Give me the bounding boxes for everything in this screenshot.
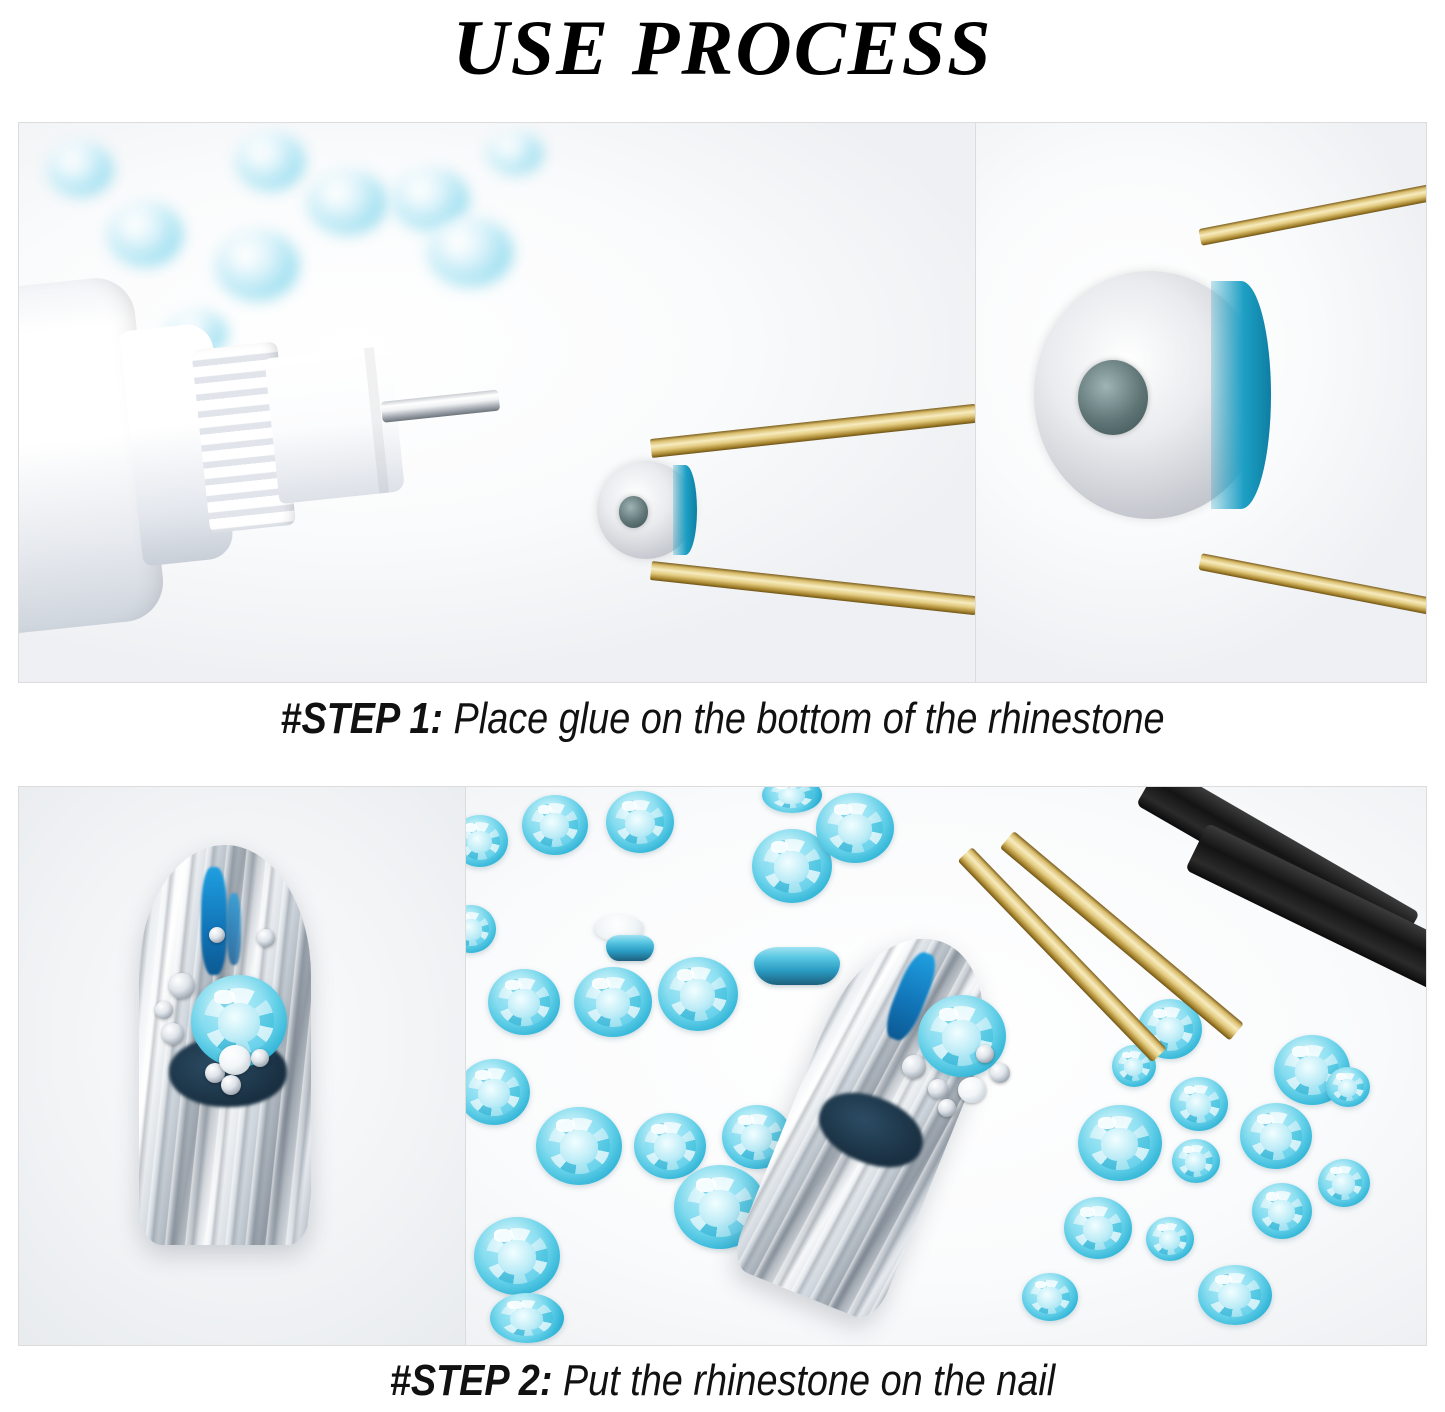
rhinestone-sparkle [939,1008,958,1021]
step-2-photo-row [18,786,1427,1346]
scattered-rhinestone [658,957,738,1031]
step-1-text: Place glue on the bottom of the rhinesto… [443,694,1165,743]
blurred-rhinestone [427,217,513,287]
scattered-rhinestone [474,1217,560,1295]
scattered-rhinestone [1170,1077,1228,1131]
glue-drop [1078,360,1148,434]
silver-bead [162,1023,184,1045]
photo-glue-applied-to-rhinestone [19,123,975,682]
rhinestone-aqua-edge [1211,281,1271,509]
rhinestone-edge-view [754,947,840,985]
rhinestone-edge-view [606,935,654,961]
silver-bead [938,1099,956,1117]
silver-bead [155,1001,173,1019]
step-1-photo-row [18,122,1427,683]
scattered-rhinestone [606,791,674,853]
scattered-rhinestone [816,793,894,863]
glue-drop [619,496,648,527]
scattered-rhinestone [522,795,588,855]
silver-bead [902,1055,926,1079]
blurred-rhinestone [487,131,543,175]
scattered-rhinestone [488,969,560,1035]
nail-blue-accent [227,893,241,965]
blurred-rhinestone [307,169,387,235]
scattered-rhinestone [490,1293,564,1343]
scattered-rhinestone [634,1113,706,1179]
scattered-rhinestone [1172,1139,1220,1183]
scattered-rhinestone [1198,1265,1272,1325]
glue-bottle [19,236,397,659]
scattered-rhinestone [1326,1067,1370,1107]
glue-bottle-neck [264,346,405,504]
page-title: USE PROCESS [0,0,1445,96]
scattered-rhinestone [1252,1183,1312,1239]
scattered-rhinestone [1318,1159,1370,1207]
rhinestone-foil-back-macro [1034,271,1266,519]
photo-finished-chrome-nail [19,787,465,1345]
scattered-rhinestone [536,1107,622,1185]
silver-bead [169,973,195,999]
silver-bead [976,1045,994,1063]
step-1-caption: #STEP 1: Place glue on the bottom of the… [101,694,1344,744]
photo-rhinestone-back-closeup [975,123,1426,682]
scattered-rhinestone [1022,1273,1078,1321]
step-2-label: #STEP 2: [390,1356,553,1405]
clear-rhinestone-bead [958,1077,986,1103]
step-1-label: #STEP 1: [280,694,443,743]
rhinestone-aqua-edge [673,465,697,555]
scattered-rhinestone [1146,1217,1194,1261]
scattered-rhinestone [1240,1103,1312,1169]
silver-bead [257,929,275,947]
rhinestone-foil-back [597,461,695,559]
blurred-rhinestone [47,141,113,197]
silver-bead [209,927,225,943]
silver-bead [221,1075,241,1095]
silver-bead [990,1063,1010,1083]
step-2-text: Put the rhinestone on the nail [552,1356,1055,1405]
scattered-rhinestone [574,967,652,1037]
step-2-caption: #STEP 2: Put the rhinestone on the nail [101,1356,1344,1406]
nail-blue-accent [201,867,227,975]
photo-placing-rhinestone-on-nail [465,787,1426,1345]
silver-bead [928,1079,948,1099]
scattered-rhinestone [1078,1105,1162,1181]
scattered-rhinestone [1064,1197,1132,1259]
rhinestone-sparkle [214,990,235,1005]
blurred-rhinestone [235,131,305,191]
silver-bead [251,1049,269,1067]
clear-rhinestone-bead [219,1045,251,1075]
